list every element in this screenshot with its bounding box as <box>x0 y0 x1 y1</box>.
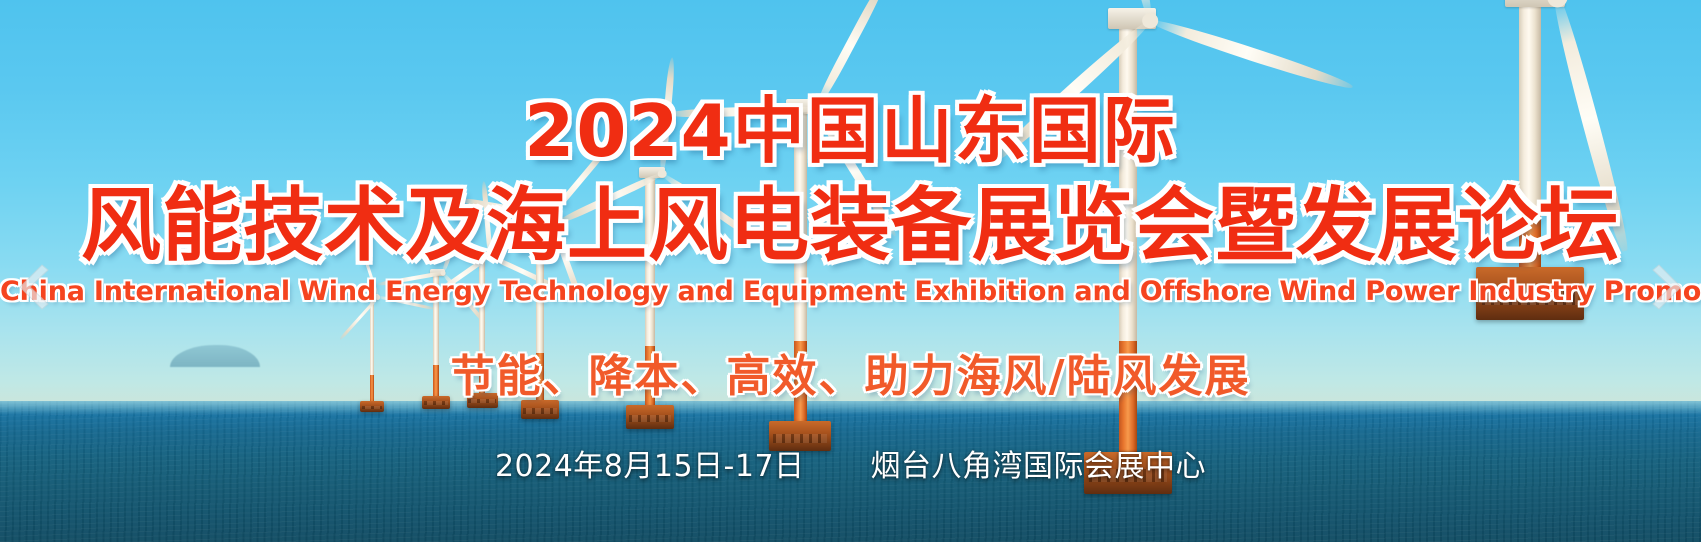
banner-subtitle-english: China International Wind Energy Technolo… <box>0 277 1701 307</box>
banner-content: 2024中国山东国际 风能技术及海上风电装备展览会暨发展论坛 China Int… <box>0 0 1701 542</box>
banner-title-line-1: 2024中国山东国际 <box>0 95 1701 167</box>
event-venue: 烟台八角湾国际会展中心 <box>871 450 1207 484</box>
event-banner: 2024中国山东国际 风能技术及海上风电装备展览会暨发展论坛 China Int… <box>0 0 1701 542</box>
event-date: 2024年8月15日-17日 <box>495 450 805 484</box>
chevron-right-icon <box>1643 264 1683 310</box>
chevron-left-icon <box>18 264 58 310</box>
banner-title-line-2: 风能技术及海上风电装备展览会暨发展论坛 <box>0 186 1701 266</box>
carousel-prev-button[interactable] <box>18 264 58 310</box>
banner-footer-info: 2024年8月15日-17日 烟台八角湾国际会展中心 <box>0 450 1701 484</box>
carousel-next-button[interactable] <box>1643 264 1683 310</box>
banner-tagline: 节能、降本、高效、助力海风/陆风发展 <box>0 353 1701 401</box>
